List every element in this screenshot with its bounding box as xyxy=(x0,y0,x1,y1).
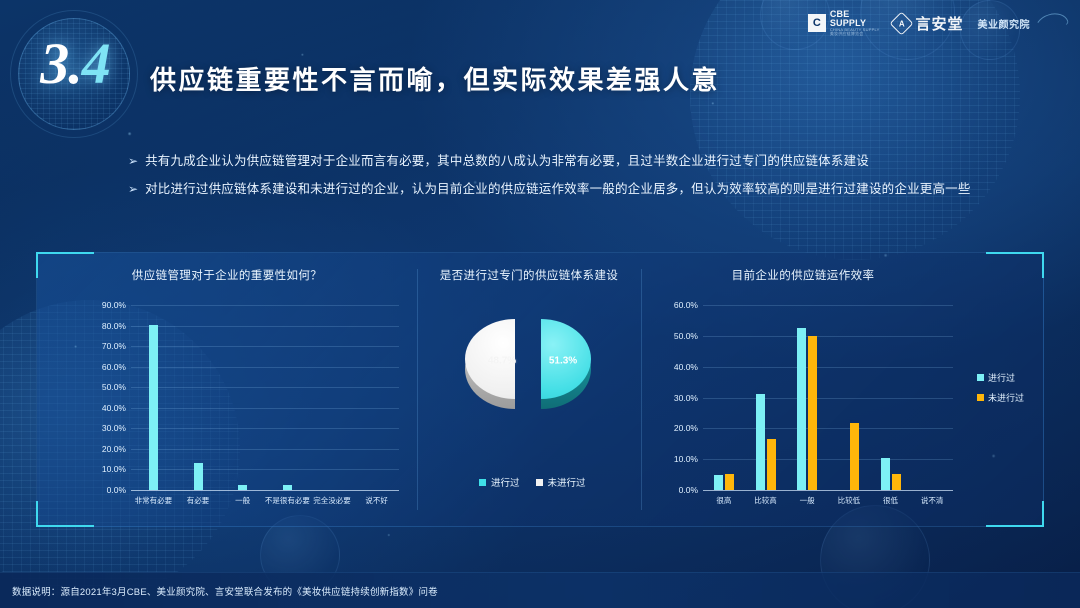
x-axis-tick-label: 一般 xyxy=(800,495,815,506)
slide-canvas: 3.4 供应链重要性不言而喻，但实际效果差强人意 C CBE SUPPLY CH… xyxy=(0,0,1080,608)
pie-area-system-built: 48.7% 51.3% xyxy=(469,315,599,420)
legend-item[interactable]: 进行过 xyxy=(977,371,1024,384)
yanantang-logo-text: 言安堂 xyxy=(915,13,963,34)
grid-line xyxy=(703,305,953,306)
chart-title-importance: 供应链管理对于企业的重要性如何？ xyxy=(37,267,417,283)
legend-label-built: 进行过 xyxy=(491,475,520,489)
yanantang-logo-mark: A xyxy=(899,19,905,28)
bar xyxy=(850,423,859,490)
y-axis-tick-label: 40.0% xyxy=(102,403,126,413)
bar xyxy=(797,328,806,490)
bar xyxy=(725,474,734,490)
y-axis-tick-label: 20.0% xyxy=(102,444,126,454)
cbe-logo-mark: C xyxy=(808,14,826,32)
section-number-accent: 4 xyxy=(82,31,110,96)
x-axis-tick-label: 比较高 xyxy=(754,495,777,506)
charts-panel: 供应链管理对于企业的重要性如何？ 0.0%10.0%20.0%30.0%40.0… xyxy=(36,252,1044,527)
grid-line xyxy=(131,469,399,470)
chart-title-efficiency: 目前企业的供应链运作效率 xyxy=(641,267,965,283)
x-axis-tick-label: 不是很有必要 xyxy=(265,495,310,506)
bullet-item: ➢ 共有九成企业认为供应链管理对于企业而言有必要，其中总数的八成认为非常有必要，… xyxy=(128,152,1020,171)
legend-item[interactable]: 未进行过 xyxy=(977,391,1024,404)
bullet-item: ➢ 对比进行过供应链体系建设和未进行过的企业，认为目前企业的供应链运作效率一般的… xyxy=(128,180,1020,199)
bar xyxy=(756,394,765,490)
cbe-logo-line4: 美妆供应链博览会 xyxy=(830,32,880,36)
y-axis-tick-label: 50.0% xyxy=(674,331,698,341)
y-axis-tick-label: 30.0% xyxy=(674,393,698,403)
footer-note: 数据说明：源自2021年3月CBE、美业颜究院、言安堂联合发布的《美妆供应链持续… xyxy=(12,584,438,598)
logo-cbe-supply: C CBE SUPPLY CHINA BEAUTY SUPPLY 美妆供应链博览… xyxy=(808,10,880,37)
legend-label: 进行过 xyxy=(988,371,1015,384)
logo-yanantang: A 言安堂 xyxy=(893,13,963,34)
grid-line xyxy=(131,449,399,450)
bar xyxy=(149,325,158,490)
bar xyxy=(238,485,247,490)
y-axis-tick-label: 90.0% xyxy=(102,300,126,310)
grid-line xyxy=(131,326,399,327)
bar xyxy=(714,475,723,490)
logo-yanjiuyuan: 美业颜究院 xyxy=(978,14,1069,32)
y-axis-tick-label: 20.0% xyxy=(674,423,698,433)
x-axis-tick-label: 非常有必要 xyxy=(135,495,173,506)
grid-line xyxy=(703,398,953,399)
swoosh-icon xyxy=(1032,9,1070,37)
grid-line xyxy=(703,459,953,460)
grid-line xyxy=(703,428,953,429)
grid-line xyxy=(131,387,399,388)
page-title: 供应链重要性不言而喻，但实际效果差强人意 xyxy=(150,60,720,97)
x-axis-line xyxy=(703,490,953,491)
bullet-text: 共有九成企业认为供应链管理对于企业而言有必要，其中总数的八成认为非常有必要，且过… xyxy=(145,152,869,171)
x-axis-tick-label: 一般 xyxy=(235,495,250,506)
legend-swatch-not-built xyxy=(536,479,543,486)
y-axis-tick-label: 70.0% xyxy=(102,341,126,351)
bar xyxy=(767,439,776,490)
bar xyxy=(892,474,901,490)
logo-group: C CBE SUPPLY CHINA BEAUTY SUPPLY 美妆供应链博览… xyxy=(808,10,1068,37)
pie-slice-built: 51.3% xyxy=(491,319,591,411)
bar xyxy=(808,336,817,490)
y-axis-tick-label: 0.0% xyxy=(679,485,698,495)
y-axis-tick-label: 0.0% xyxy=(107,485,126,495)
pie-legend-item-not-built[interactable]: 未进行过 xyxy=(536,475,586,489)
legend-swatch xyxy=(977,374,984,381)
section-number-main: 3. xyxy=(40,31,82,96)
chart-system-built: 是否进行过专门的供应链体系建设 48.7% 51.3% 进行过 xyxy=(417,253,641,528)
y-axis-tick-label: 10.0% xyxy=(674,454,698,464)
grid-line xyxy=(703,367,953,368)
x-axis-tick-label: 很高 xyxy=(716,495,731,506)
x-axis-tick-label: 说不好 xyxy=(365,495,388,506)
legend-label: 未进行过 xyxy=(988,391,1024,404)
pie-label-built: 51.3% xyxy=(549,356,577,367)
grid-line xyxy=(131,428,399,429)
y-axis-tick-label: 80.0% xyxy=(102,321,126,331)
x-axis-tick-label: 很低 xyxy=(883,495,898,506)
y-axis-tick-label: 10.0% xyxy=(102,464,126,474)
footer-bar: 数据说明：源自2021年3月CBE、美业颜究院、言安堂联合发布的《美妆供应链持续… xyxy=(0,572,1080,608)
x-axis-tick-label: 说不清 xyxy=(921,495,944,506)
plot-area-efficiency: 0.0%10.0%20.0%30.0%40.0%50.0%60.0%很高比较高一… xyxy=(703,305,953,490)
chart-legend-efficiency: 进行过未进行过 xyxy=(977,371,1024,404)
x-axis-tick-label: 完全没必要 xyxy=(313,495,351,506)
grid-line xyxy=(131,346,399,347)
grid-line xyxy=(131,305,399,306)
y-axis-tick-label: 50.0% xyxy=(102,382,126,392)
legend-swatch xyxy=(977,394,984,401)
y-axis-tick-label: 60.0% xyxy=(674,300,698,310)
y-axis-tick-label: 40.0% xyxy=(674,362,698,372)
y-axis-tick-label: 30.0% xyxy=(102,423,126,433)
legend-label-not-built: 未进行过 xyxy=(548,475,586,489)
pie-legend-item-built[interactable]: 进行过 xyxy=(479,475,520,489)
section-number: 3.4 xyxy=(10,30,140,97)
slide-header: 3.4 供应链重要性不言而喻，但实际效果差强人意 C CBE SUPPLY CH… xyxy=(0,0,1080,140)
plot-area-importance: 0.0%10.0%20.0%30.0%40.0%50.0%60.0%70.0%8… xyxy=(131,305,399,490)
chart-importance: 供应链管理对于企业的重要性如何？ 0.0%10.0%20.0%30.0%40.0… xyxy=(37,253,417,528)
arrow-right-icon: ➢ xyxy=(128,152,138,171)
cbe-logo-text: CBE SUPPLY CHINA BEAUTY SUPPLY 美妆供应链博览会 xyxy=(830,10,880,37)
bar xyxy=(194,463,203,490)
legend-swatch-built xyxy=(479,479,486,486)
bar xyxy=(881,458,890,490)
yanantang-logo-icon: A xyxy=(890,11,914,35)
bullet-list: ➢ 共有九成企业认为供应链管理对于企业而言有必要，其中总数的八成认为非常有必要，… xyxy=(128,152,1020,208)
grid-line xyxy=(131,408,399,409)
bullet-text: 对比进行过供应链体系建设和未进行过的企业，认为目前企业的供应链运作效率一般的企业… xyxy=(145,180,971,199)
chart-title-system-built: 是否进行过专门的供应链体系建设 xyxy=(417,267,641,283)
chart-efficiency: 目前企业的供应链运作效率 0.0%10.0%20.0%30.0%40.0%50.… xyxy=(641,253,1045,528)
grid-line xyxy=(131,367,399,368)
grid-line xyxy=(703,336,953,337)
x-axis-tick-label: 比较低 xyxy=(838,495,861,506)
bar xyxy=(283,485,292,490)
yanjiuyuan-logo-text: 美业颜究院 xyxy=(978,16,1031,31)
x-axis-tick-label: 有必要 xyxy=(187,495,210,506)
y-axis-tick-label: 60.0% xyxy=(102,362,126,372)
x-axis-line xyxy=(131,490,399,491)
arrow-right-icon: ➢ xyxy=(128,180,138,199)
section-number-badge: 3.4 xyxy=(10,12,140,137)
pie-legend: 进行过 未进行过 xyxy=(479,475,586,489)
